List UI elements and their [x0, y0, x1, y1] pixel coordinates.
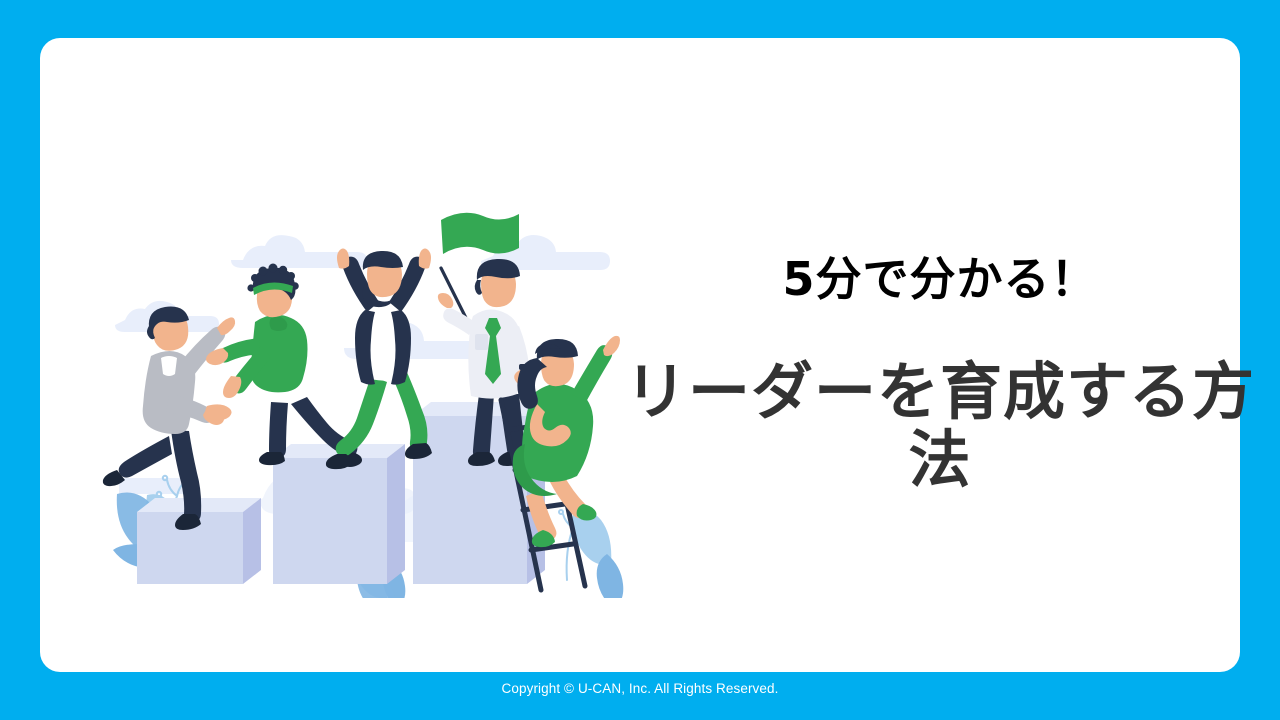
copyright-footer: Copyright © U-CAN, Inc. All Rights Reser…: [0, 681, 1280, 696]
page-title: リーダーを育成する方法: [600, 358, 1280, 494]
content-card: 5分で分かる！ リーダーを育成する方法: [40, 38, 1240, 672]
title-text-block: 5分で分かる！ リーダーを育成する方法: [600, 253, 1280, 494]
team-climbing-steps-illustration: [95, 198, 625, 598]
headline-text: 5分で分かる！: [600, 253, 1280, 306]
figure-helper-green-top: [206, 264, 362, 468]
clasped-hands: [205, 404, 231, 420]
slide-root: 5分で分かる！ リーダーを育成する方法 Copyright © U-CAN, I…: [0, 0, 1280, 720]
